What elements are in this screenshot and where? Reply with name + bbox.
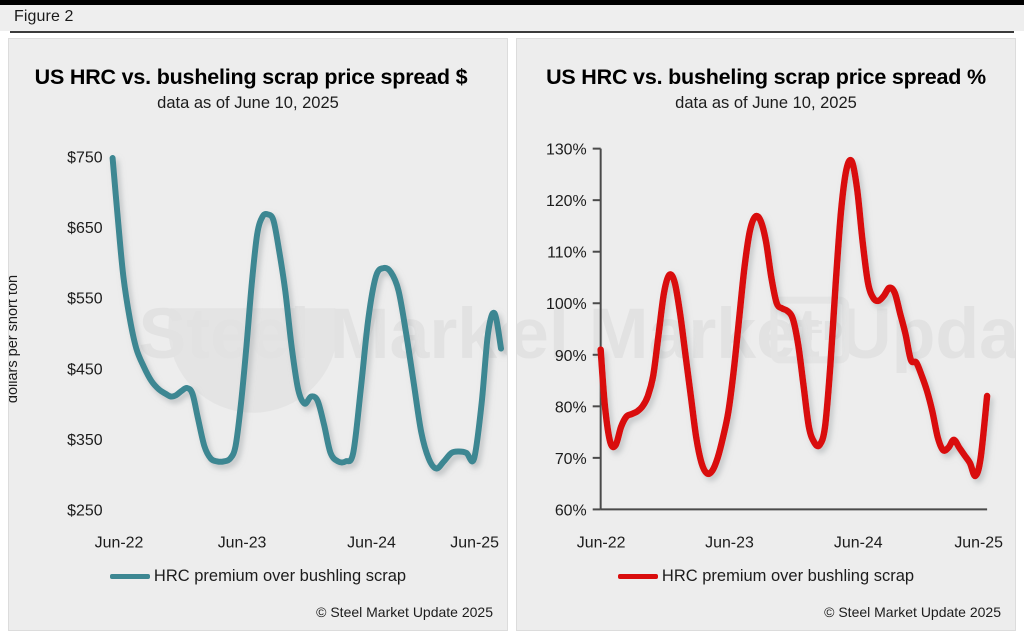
svg-text:Jun-24: Jun-24 xyxy=(347,534,396,551)
y-axis-label-dollars: dollars per short ton xyxy=(8,275,21,403)
svg-text:80%: 80% xyxy=(555,399,587,416)
svg-text:$450: $450 xyxy=(67,361,103,378)
figure-header: Figure 2 xyxy=(0,5,1024,31)
chart-title-dollars: US HRC vs. busheling scrap price spread … xyxy=(9,65,507,90)
y-tick-labels-percent: 60%70%80%90%100%110%120%130% xyxy=(546,142,587,520)
plot-area-dollars: Steel Market Update $250$350$450$550$650… xyxy=(9,39,507,630)
svg-text:Jun-23: Jun-23 xyxy=(218,534,267,551)
legend-dollars: HRC premium over bushling scrap xyxy=(9,567,507,586)
series-line-hrc-premium-dollars xyxy=(113,158,501,469)
svg-text:$250: $250 xyxy=(67,502,103,519)
x-tick-labels-percent: Jun-22Jun-23Jun-24Jun-25 xyxy=(577,534,1003,551)
svg-text:$650: $650 xyxy=(67,220,103,237)
header-divider xyxy=(10,31,1014,33)
svg-text:$350: $350 xyxy=(67,432,103,449)
svg-text:Jun-23: Jun-23 xyxy=(705,534,754,551)
y-tick-labels-dollars: $250$350$450$550$650$750 xyxy=(67,150,103,520)
watermark-left: Steel Market Update xyxy=(138,224,507,413)
svg-text:CFD: CFD xyxy=(786,315,843,346)
chart-panel-spread-percent: US HRC vs. busheling scrap price spread … xyxy=(516,38,1016,631)
legend-percent: HRC premium over bushling scrap xyxy=(517,567,1015,586)
figure-label: Figure 2 xyxy=(14,8,74,26)
svg-text:100%: 100% xyxy=(546,296,587,313)
svg-text:130%: 130% xyxy=(546,142,587,159)
svg-text:70%: 70% xyxy=(555,451,587,468)
svg-text:Jun-24: Jun-24 xyxy=(834,534,883,551)
chart-title-percent: US HRC vs. busheling scrap price spread … xyxy=(517,65,1015,90)
chart-subtitle-dollars: data as of June 10, 2025 xyxy=(9,94,507,113)
plot-area-percent: Steel Market Update CFD 60%70%80%90%100%… xyxy=(517,39,1015,630)
legend-swatch-icon xyxy=(618,574,658,579)
series-line-hrc-premium-percent xyxy=(601,160,987,476)
svg-text:Steel Market Update: Steel Market Update xyxy=(138,294,507,374)
svg-text:60%: 60% xyxy=(555,502,587,519)
svg-text:120%: 120% xyxy=(546,193,587,210)
legend-swatch-icon xyxy=(110,574,150,579)
charts-container: US HRC vs. busheling scrap price spread … xyxy=(0,36,1024,633)
svg-text:$550: $550 xyxy=(67,291,103,308)
figure-root: Figure 2 US HRC vs. busheling scrap pric… xyxy=(0,0,1024,633)
chart-panel-spread-dollars: US HRC vs. busheling scrap price spread … xyxy=(8,38,508,631)
svg-text:Jun-22: Jun-22 xyxy=(95,534,144,551)
legend-label-dollars: HRC premium over bushling scrap xyxy=(154,567,406,586)
svg-text:Steel Market Update: Steel Market Update xyxy=(517,294,1015,374)
svg-text:$750: $750 xyxy=(67,150,103,167)
x-tick-labels-dollars: Jun-22Jun-23Jun-24Jun-25 xyxy=(95,534,500,551)
svg-text:110%: 110% xyxy=(547,245,587,262)
legend-label-percent: HRC premium over bushling scrap xyxy=(662,567,914,586)
chart-subtitle-percent: data as of June 10, 2025 xyxy=(517,94,1015,113)
svg-text:Jun-22: Jun-22 xyxy=(577,534,626,551)
svg-text:Jun-25: Jun-25 xyxy=(450,534,499,551)
svg-text:Jun-25: Jun-25 xyxy=(954,534,1003,551)
axis-lines-percent xyxy=(593,149,987,510)
watermark-right: Steel Market Update CFD xyxy=(517,294,1015,374)
copyright-percent: © Steel Market Update 2025 xyxy=(824,604,1001,620)
svg-text:90%: 90% xyxy=(555,348,587,365)
copyright-dollars: © Steel Market Update 2025 xyxy=(316,604,493,620)
